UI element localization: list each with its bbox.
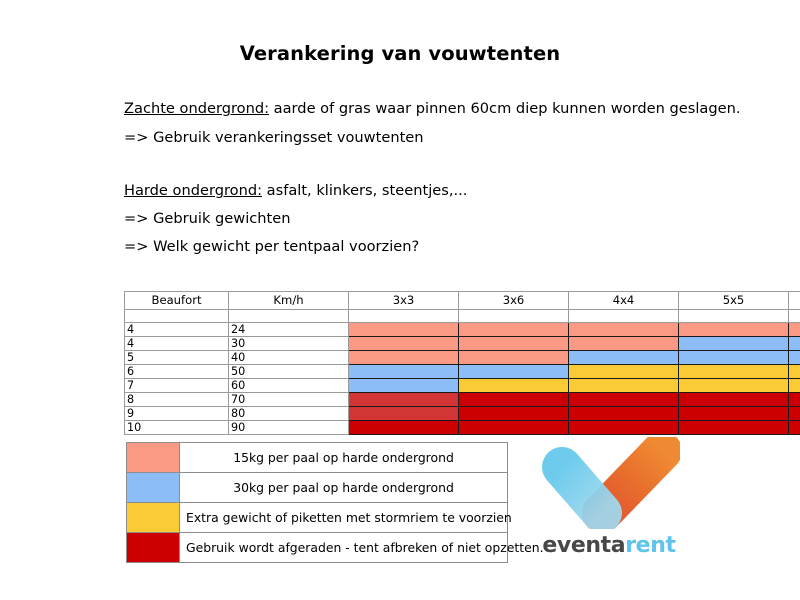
legend-swatch-yellow <box>127 503 180 533</box>
matrix-cell-3x6-red <box>459 407 569 421</box>
matrix-cell-4x4-red <box>569 421 679 435</box>
matrix-cell-3x6-salmon <box>459 323 569 337</box>
matrix-beaufort-cell: 7 <box>125 379 229 393</box>
brand-logo: eventarent <box>524 437 694 565</box>
matrix-cell-4x4-red <box>569 407 679 421</box>
matrix-beaufort-cell: 4 <box>125 323 229 337</box>
legend-row: 15kg per paal op harde ondergrond <box>127 443 508 473</box>
matrix-cell-5x5-blue <box>679 351 789 365</box>
matrix-beaufort-cell: 8 <box>125 393 229 407</box>
matrix-row: 980 <box>125 407 800 421</box>
legend-swatch-red <box>127 533 180 563</box>
matrix-cell-4x8-red <box>789 421 800 435</box>
soft-ground-paragraph: Zachte ondergrond: aarde of gras waar pi… <box>124 101 740 117</box>
matrix-cell-4x8-red <box>789 393 800 407</box>
legend-swatch-blue <box>127 473 180 503</box>
matrix-cell-4x4-blue <box>569 351 679 365</box>
matrix-cell-3x3-blue <box>349 365 459 379</box>
matrix-kmh-cell: 80 <box>229 407 349 421</box>
matrix-cell-3x3-salmon <box>349 351 459 365</box>
wind-load-matrix-table: BeaufortKm/h3x33x64x45x54x8 424430540650… <box>124 291 800 435</box>
matrix-beaufort-cell: 10 <box>125 421 229 435</box>
matrix-row: 424 <box>125 323 800 337</box>
matrix-header-cell-3x6: 3x6 <box>459 292 569 310</box>
matrix-kmh-cell: 40 <box>229 351 349 365</box>
matrix-cell-3x3-salmon <box>349 337 459 351</box>
matrix-beaufort-cell: 5 <box>125 351 229 365</box>
hard-ground-action: => Gebruik gewichten <box>124 211 291 227</box>
matrix-kmh-cell: 24 <box>229 323 349 337</box>
matrix-row: 650 <box>125 365 800 379</box>
matrix-header-cell-4x4: 4x4 <box>569 292 679 310</box>
matrix-row: 870 <box>125 393 800 407</box>
logo-wordmark: eventarent <box>524 533 694 558</box>
matrix-cell-5x5-red <box>679 393 789 407</box>
legend-row: Extra gewicht of piketten met stormriem … <box>127 503 508 533</box>
matrix-cell-4x4-salmon <box>569 337 679 351</box>
matrix-cell-3x6-salmon <box>459 351 569 365</box>
matrix-cell-3x6-red <box>459 421 569 435</box>
matrix-beaufort-cell: 4 <box>125 337 229 351</box>
matrix-header-cell-3x3: 3x3 <box>349 292 459 310</box>
matrix-row: 540 <box>125 351 800 365</box>
legend-label: Gebruik wordt afgeraden - tent afbreken … <box>180 533 508 563</box>
matrix-header-cell-4x8: 4x8 <box>789 292 800 310</box>
legend-swatch-salmon <box>127 443 180 473</box>
matrix-cell-4x8-salmon <box>789 323 800 337</box>
matrix-cell-4x4-yellow <box>569 379 679 393</box>
logo-word-primary: eventa <box>542 533 625 558</box>
legend-label: Extra gewicht of piketten met stormriem … <box>180 503 508 533</box>
matrix-kmh-cell: 30 <box>229 337 349 351</box>
checkmark-logo-icon <box>536 437 680 529</box>
matrix-header-cell-5x5: 5x5 <box>679 292 789 310</box>
matrix-kmh-cell: 70 <box>229 393 349 407</box>
matrix-header-row: BeaufortKm/h3x33x64x45x54x8 <box>125 292 800 310</box>
legend-row: 30kg per paal op harde ondergrond <box>127 473 508 503</box>
hard-ground-paragraph: Harde ondergrond: asfalt, klinkers, stee… <box>124 183 467 199</box>
matrix-row: 760 <box>125 379 800 393</box>
matrix-cell-4x8-yellow <box>789 379 800 393</box>
matrix-row: 430 <box>125 337 800 351</box>
matrix-cell-5x5-red <box>679 407 789 421</box>
soft-ground-label: Zachte ondergrond: <box>124 100 269 117</box>
soft-ground-description: aarde of gras waar pinnen 60cm diep kunn… <box>269 100 740 117</box>
hard-ground-question: => Welk gewicht per tentpaal voorzien? <box>124 239 419 255</box>
matrix-header-cell-km-h: Km/h <box>229 292 349 310</box>
matrix-cell-3x3-blue <box>349 379 459 393</box>
matrix-cell-3x6-salmon <box>459 337 569 351</box>
matrix-cell-3x3-red_muted <box>349 393 459 407</box>
matrix-beaufort-cell: 6 <box>125 365 229 379</box>
matrix-cell-3x3-red_muted <box>349 407 459 421</box>
matrix-kmh-cell: 60 <box>229 379 349 393</box>
matrix-cell-3x3-red <box>349 421 459 435</box>
legend-label: 15kg per paal op harde ondergrond <box>180 443 508 473</box>
logo-word-accent: rent <box>625 533 675 558</box>
matrix-beaufort-cell: 9 <box>125 407 229 421</box>
legend-row: Gebruik wordt afgeraden - tent afbreken … <box>127 533 508 563</box>
matrix-kmh-cell: 50 <box>229 365 349 379</box>
matrix-cell-4x4-yellow <box>569 365 679 379</box>
matrix-cell-3x6-blue <box>459 365 569 379</box>
matrix-cell-5x5-yellow <box>679 379 789 393</box>
matrix-cell-5x5-yellow <box>679 365 789 379</box>
matrix-cell-3x3-salmon <box>349 323 459 337</box>
matrix-cell-3x6-yellow <box>459 379 569 393</box>
legend-label: 30kg per paal op harde ondergrond <box>180 473 508 503</box>
hard-ground-label: Harde ondergrond: <box>124 182 262 199</box>
matrix-cell-5x5-blue <box>679 337 789 351</box>
matrix-header-cell-beaufort: Beaufort <box>125 292 229 310</box>
matrix-cell-4x8-yellow <box>789 365 800 379</box>
hard-ground-description: asfalt, klinkers, steentjes,... <box>262 182 467 199</box>
matrix-cell-5x5-red <box>679 421 789 435</box>
matrix-cell-4x8-blue <box>789 337 800 351</box>
matrix-cell-4x4-red <box>569 393 679 407</box>
matrix-cell-4x8-red <box>789 407 800 421</box>
matrix-cell-4x8-blue <box>789 351 800 365</box>
matrix-cell-4x4-salmon <box>569 323 679 337</box>
matrix-cell-3x6-red <box>459 393 569 407</box>
matrix-kmh-cell: 90 <box>229 421 349 435</box>
soft-ground-action: => Gebruik verankeringsset vouwtenten <box>124 130 424 146</box>
matrix-spacer-row <box>125 310 800 323</box>
legend-table: 15kg per paal op harde ondergrond30kg pe… <box>126 442 508 563</box>
matrix-cell-5x5-salmon <box>679 323 789 337</box>
page-title: Verankering van vouwtenten <box>0 42 800 65</box>
matrix-row: 1090 <box>125 421 800 435</box>
